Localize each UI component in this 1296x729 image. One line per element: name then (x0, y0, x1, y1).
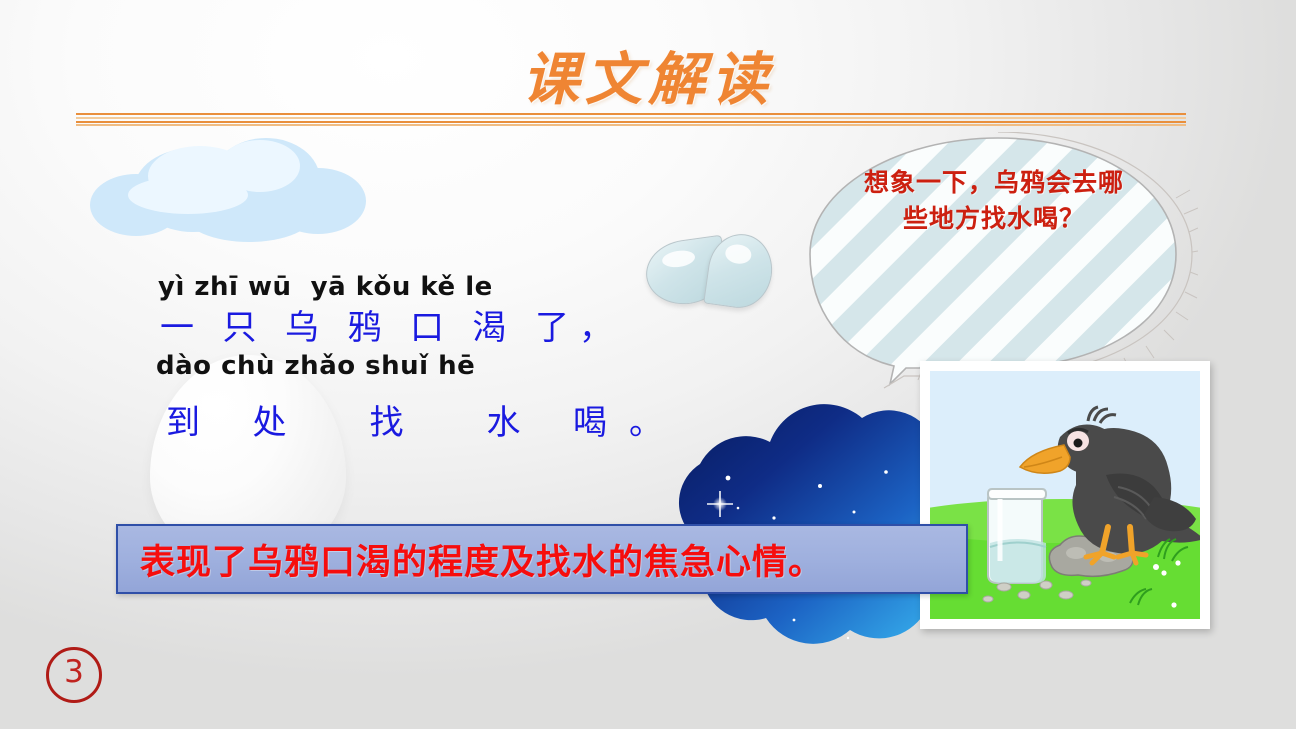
summary-banner: 表现了乌鸦口渴的程度及找水的焦急心情。 (116, 524, 968, 594)
poem-hanzi-2: 到 处 找 水 喝。 (166, 395, 622, 444)
crow-illustration (930, 371, 1200, 619)
summary-banner-text: 表现了乌鸦口渴的程度及找水的焦急心情。 (118, 534, 824, 585)
poem-line-1: yì zhī wū yā kǒu kě le 一 只 乌 鸦 口 渴 了， (152, 272, 622, 349)
title-divider (76, 113, 1186, 127)
poem-line-2: dào chù zhǎo shuǐ hē 到 处 找 水 喝。 (152, 351, 622, 444)
slide-canvas: 课文解读 (0, 0, 1296, 729)
divider-line-4 (76, 124, 1186, 126)
poem-pinyin-2: dào chù zhǎo shuǐ hē (156, 351, 622, 381)
speech-bubble: 想象一下，乌鸦会去哪些地方找水喝？ (798, 132, 1198, 390)
divider-line-2 (76, 117, 1186, 119)
page-title: 课文解读 (0, 34, 1296, 116)
poem-hanzi-1: 一 只 乌 鸦 口 渴 了， (160, 300, 622, 349)
poem-block: yì zhī wū yā kǒu kě le 一 只 乌 鸦 口 渴 了， dà… (152, 272, 622, 444)
decorative-cloud-icon (84, 132, 374, 242)
speech-bubble-text: 想象一下，乌鸦会去哪些地方找水喝？ (862, 166, 1126, 239)
poem-pinyin-1: yì zhī wū yā kǒu kě le (158, 272, 622, 302)
water-droplet-icon (646, 228, 776, 324)
divider-line-1 (76, 113, 1186, 115)
page-number-marker: 3 (46, 647, 102, 703)
divider-line-3 (76, 121, 1186, 123)
